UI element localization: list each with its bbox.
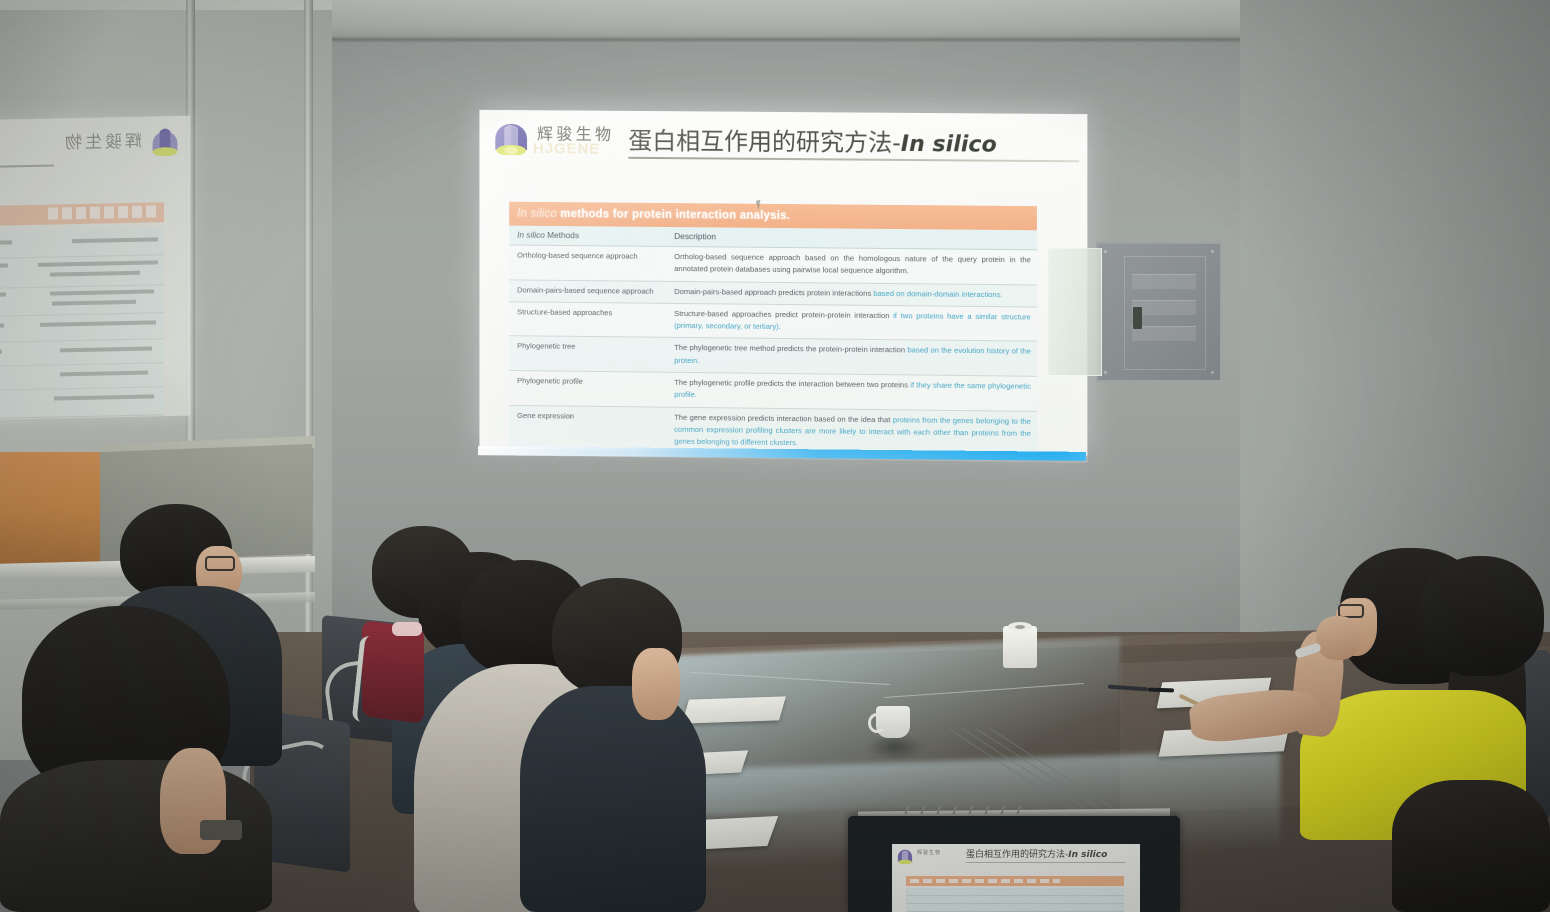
cell-description: The phylogenetic profile predicts the in… (666, 377, 1037, 406)
caption-italic-part: In silico (517, 208, 557, 220)
laptop-screen[interactable]: 辉骏生物 蛋白相互作用的研究方法-In silico (892, 844, 1140, 912)
cell-method: Phylogenetic tree (509, 341, 666, 367)
cell-method: Gene expression (509, 410, 666, 449)
table-row: Structure-based approaches Structure-bas… (509, 302, 1037, 342)
cell-method: Domain-pairs-based sequence approach (509, 284, 666, 298)
cell-description: Ortholog-based sequence approach based o… (666, 251, 1037, 279)
laptop-title-en: In silico (1068, 850, 1107, 860)
coffee-mug (876, 706, 910, 738)
wooden-cabinet (0, 452, 110, 564)
company-logo-icon (491, 119, 531, 155)
cell-desc-text: Structure-based approaches predict prote… (674, 309, 893, 320)
slide-header: 辉骏生物 HJGENE 蛋白相互作用的研究方法-In silico (479, 110, 1087, 173)
laptop-slide-title: 蛋白相互作用的研究方法-In silico (966, 847, 1107, 860)
table-row: Ortholog-based sequence approach Ortholo… (509, 246, 1037, 286)
cell-desc-text: The gene expression predicts interaction… (674, 412, 893, 424)
cell-desc-text: The phylogenetic tree method predicts th… (674, 343, 907, 354)
presenter-laptop[interactable]: 辉骏生物 蛋白相互作用的研究方法-In silico (848, 816, 1180, 912)
logo-english-text: HJGENE (533, 140, 600, 157)
conference-room-photo: 蛋 辉骏生物 (0, 0, 1550, 912)
table-row: Phylogenetic tree The phylogenetic tree … (509, 337, 1037, 377)
panel-screw (1104, 371, 1107, 374)
title-underline (628, 157, 1079, 163)
laptop-table-row (906, 888, 1124, 896)
cell-desc-text: Ortholog-based sequence approach based o… (674, 252, 1031, 275)
slide-title: 蛋白相互作用的研究方法-In silico (628, 121, 996, 159)
reflection-logo-icon (146, 124, 184, 157)
cell-description: The phylogenetic tree method predicts th… (666, 342, 1037, 371)
panel-latch-handle (1133, 307, 1142, 329)
cell-description: Structure-based approaches predict prote… (666, 308, 1037, 336)
cell-method: Structure-based approaches (509, 306, 666, 332)
cell-description: The gene expression predicts interaction… (666, 411, 1037, 452)
panel-breaker-slot (1132, 274, 1196, 289)
cell-desc-text: Domain-pairs-based approach predicts pro… (674, 287, 873, 298)
panel-screw (1211, 371, 1214, 374)
phone (200, 820, 242, 840)
reflection-caption-band (0, 202, 164, 226)
slide-title-en: In silico (901, 132, 997, 158)
laptop-table-row (906, 896, 1124, 904)
laptop-logo-chinese: 辉骏生物 (917, 849, 941, 856)
methods-table: In silico Methods Description Ortholog-b… (509, 226, 1037, 456)
partition-frame-top (0, 0, 332, 10)
cell-description: Domain-pairs-based approach predicts pro… (666, 285, 1037, 301)
laptop-table-row (906, 904, 1124, 912)
panel-screw (1211, 250, 1214, 253)
mirrored-slide-reflection: 蛋 辉骏生物 (0, 116, 190, 421)
reflection-title-rule (0, 165, 54, 169)
cell-method: Phylogenetic profile (509, 375, 666, 401)
notebook (682, 696, 786, 723)
cell-method: Ortholog-based sequence approach (509, 250, 666, 276)
pen (1148, 688, 1174, 693)
laptop-caption-band (906, 876, 1124, 886)
reflection-chinese-logo: 辉骏生物 (62, 127, 142, 154)
cell-desc-text: The phylogenetic profile predicts the in… (674, 378, 910, 390)
laptop-title-cn: 蛋白相互作用的研究方法- (966, 850, 1068, 860)
projected-slide: 辉骏生物 HJGENE 蛋白相互作用的研究方法-In silico In sil… (479, 110, 1087, 456)
laptop-logo-icon (896, 848, 914, 864)
electrical-panel (1096, 242, 1222, 382)
tissue-roll (1003, 626, 1037, 668)
caption-rest-part: methods for protein interaction analysis… (557, 208, 790, 222)
slide-title-cn: 蛋白相互作用的研究方法- (628, 127, 900, 157)
col-header-methods: In silico Methods (509, 230, 666, 241)
laptop-title-rule (966, 862, 1126, 863)
panel-screw (1104, 250, 1107, 253)
col-header-description: Description (666, 231, 1037, 244)
reflection-row (0, 386, 164, 419)
panel-door-glass (1048, 248, 1102, 376)
cell-desc-highlight: based on domain-domain interactions. (873, 288, 1002, 298)
backpack-top-handle (392, 622, 422, 636)
